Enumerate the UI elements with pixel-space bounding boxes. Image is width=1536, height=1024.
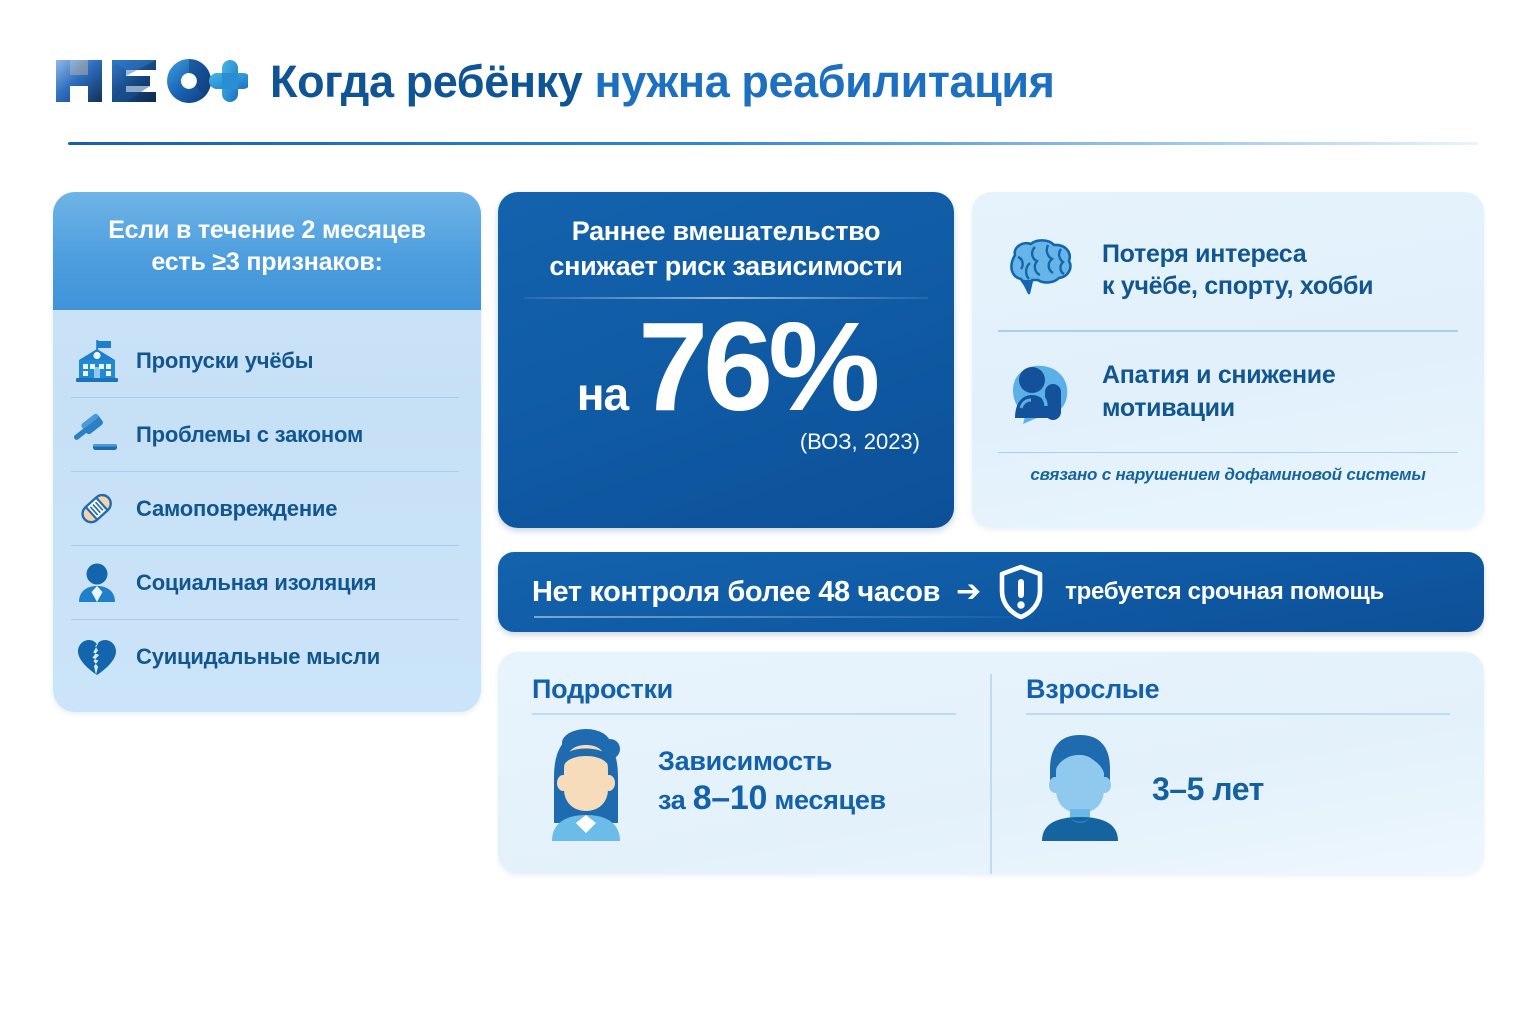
signs-heading-line1: Если в течение 2 месяцев (73, 214, 461, 246)
symptom-line1: Потеря интереса (1102, 240, 1306, 268)
urgent-underline (534, 616, 1034, 618)
signs-card-header: Если в течение 2 месяцев есть ≥3 признак… (53, 192, 481, 310)
stat-heading-line1: Раннее вмешательство (524, 214, 928, 249)
compare-value: 3–5 лет (1152, 753, 1264, 813)
symptom-text: Потеря интереса к учёбе, спорту, хобби (1102, 238, 1373, 303)
stat-heading-line2: снижает риск зависимости (524, 249, 928, 284)
compare-line2-suffix: месяцев (767, 785, 886, 815)
list-item: Суицидальные мысли (71, 620, 459, 694)
symptoms-note: связано с нарушением дофаминовой системы (998, 453, 1458, 485)
brain-icon (998, 229, 1080, 311)
gavel-icon (71, 409, 123, 461)
adult-man-avatar (1026, 723, 1134, 843)
school-icon (71, 335, 123, 387)
signs-heading-line2: есть ≥3 признаков: (73, 246, 461, 278)
list-item: Самоповреждение (71, 472, 459, 546)
list-item: Потеря интереса к учёбе, спорту, хобби (998, 210, 1458, 330)
list-item: Социальная изоляция (71, 546, 459, 620)
symptom-line1: Апатия и снижение (1102, 361, 1335, 389)
bandage-icon (71, 483, 123, 535)
stat-card: Раннее вмешательство снижает риск зависи… (498, 192, 954, 528)
symptom-line2: к учёбе, спорту, хобби (1102, 272, 1373, 300)
teen-girl-avatar (532, 723, 640, 843)
compare-line2: за 8–10 месяцев (658, 778, 886, 819)
signs-card: Если в течение 2 месяцев есть ≥3 признак… (53, 192, 481, 712)
symptoms-card: Потеря интереса к учёбе, спорту, хобби (972, 192, 1484, 528)
list-item: Проблемы с законом (71, 398, 459, 472)
compare-divider (1026, 713, 1450, 715)
broken-heart-icon (71, 631, 123, 683)
compare-divider (532, 713, 956, 715)
compare-line2-value: 8–10 (693, 779, 767, 817)
shield-alert-icon (995, 564, 1047, 620)
compare-line2-prefix: за (658, 785, 693, 815)
urgent-bar: Нет контроля более 48 часов ➔ требуется … (498, 552, 1484, 632)
sign-label: Самоповреждение (136, 496, 337, 521)
signs-list: Пропуски учёбы (53, 310, 481, 704)
sign-label: Социальная изоляция (136, 570, 376, 595)
list-item: Пропуски учёбы (71, 324, 459, 398)
sad-person-icon (998, 351, 1080, 433)
compare-card: Подростки (498, 652, 1484, 874)
compare-title: Взрослые (1026, 674, 1450, 705)
compare-column-adults: Взрослые (990, 674, 1484, 874)
urgent-tail-text: требуется срочная помощь (1065, 578, 1384, 606)
compare-value-suffix: лет (1204, 771, 1264, 807)
compare-text: Зависимость за 8–10 месяцев (658, 745, 886, 819)
symptom-line2: мотивации (1102, 394, 1235, 422)
stat-source: (ВОЗ, 2023) (524, 429, 928, 455)
arrow-right-icon: ➔ (956, 577, 981, 607)
sign-label: Пропуски учёбы (136, 348, 313, 373)
compare-title: Подростки (532, 674, 956, 705)
stat-prefix: на (577, 367, 628, 421)
sign-label: Суицидальные мысли (136, 644, 380, 669)
infographic-page: Когда ребёнку нужна реабилитация Если в … (0, 0, 1536, 1024)
symptom-text: Апатия и снижение мотивации (1102, 359, 1335, 424)
list-item: Апатия и снижение мотивации (998, 332, 1458, 452)
compare-column-teens: Подростки (498, 674, 990, 874)
compare-value-number: 3–5 (1152, 771, 1204, 807)
stat-heading: Раннее вмешательство снижает риск зависи… (524, 214, 928, 284)
stat-value-row: на 76% (524, 309, 928, 425)
urgent-strong-text: Нет контроля более 48 часов (532, 576, 940, 609)
content-board: Если в течение 2 месяцев есть ≥3 признак… (0, 0, 1536, 1024)
compare-line1: Зависимость (658, 745, 886, 778)
sign-label: Проблемы с законом (136, 422, 363, 447)
stat-value: 76% (638, 309, 875, 425)
person-alone-icon (71, 557, 123, 609)
